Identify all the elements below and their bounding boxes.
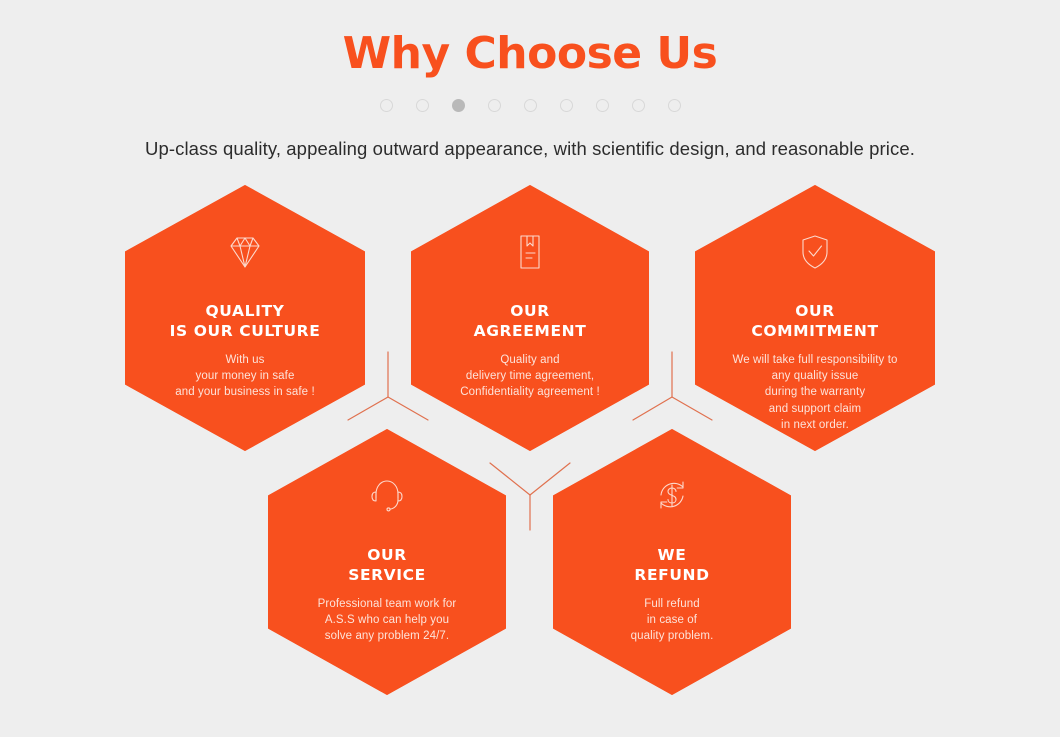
dot-indicator bbox=[380, 99, 393, 112]
card-body-line-3: quality problem. bbox=[631, 628, 714, 644]
card-body-line-1: Quality and bbox=[460, 352, 600, 368]
card-our-service[interactable]: OUR SERVICE Professional team work for A… bbox=[268, 429, 506, 695]
headset-icon bbox=[365, 474, 409, 523]
diamond-icon bbox=[223, 230, 267, 279]
card-body-line-2: delivery time agreement, bbox=[460, 368, 600, 384]
card-title-line-2: SERVICE bbox=[348, 565, 426, 585]
card-title-line-2: IS OUR CULTURE bbox=[170, 321, 321, 341]
card-title-line-1: QUALITY bbox=[170, 301, 321, 321]
card-body: Quality and delivery time agreement, Con… bbox=[460, 352, 600, 401]
dot-indicator bbox=[416, 99, 429, 112]
card-title-line-2: COMMITMENT bbox=[751, 321, 878, 341]
card-title-line-2: AGREEMENT bbox=[474, 321, 587, 341]
why-choose-us-section: Why Choose Us Up-class quality, appealin… bbox=[0, 0, 1060, 737]
card-body-line-3: during the warranty bbox=[733, 384, 898, 400]
dot-indicator bbox=[632, 99, 645, 112]
card-title: OUR SERVICE bbox=[348, 545, 426, 585]
card-title-line-1: OUR bbox=[751, 301, 878, 321]
section-subtitle: Up-class quality, appealing outward appe… bbox=[0, 138, 1060, 160]
card-body-line-1: With us bbox=[175, 352, 315, 368]
pagination-dot-6[interactable] bbox=[548, 99, 584, 112]
card-body-line-1: Professional team work for bbox=[318, 596, 457, 612]
card-body: Professional team work for A.S.S who can… bbox=[318, 596, 457, 645]
card-title-line-1: OUR bbox=[474, 301, 587, 321]
card-body-line-3: solve any problem 24/7. bbox=[318, 628, 457, 644]
page-title: Why Choose Us bbox=[0, 30, 1060, 78]
card-body-line-2: A.S.S who can help you bbox=[318, 612, 457, 628]
card-title-line-1: WE bbox=[634, 545, 709, 565]
card-our-agreement[interactable]: OUR AGREEMENT Quality and delivery time … bbox=[411, 185, 649, 451]
card-body-line-2: any quality issue bbox=[733, 368, 898, 384]
card-body-line-2: your money in safe bbox=[175, 368, 315, 384]
dot-indicator-active bbox=[452, 99, 465, 112]
dot-indicator bbox=[524, 99, 537, 112]
card-title: QUALITY IS OUR CULTURE bbox=[170, 301, 321, 341]
pagination-dot-8[interactable] bbox=[620, 99, 656, 112]
card-body-line-1: We will take full responsibility to bbox=[733, 352, 898, 368]
card-body-line-2: in case of bbox=[631, 612, 714, 628]
dot-indicator bbox=[668, 99, 681, 112]
pagination-dot-1[interactable] bbox=[368, 99, 404, 112]
dot-indicator bbox=[488, 99, 501, 112]
card-body: We will take full responsibility to any … bbox=[733, 352, 898, 433]
card-body: With us your money in safe and your busi… bbox=[175, 352, 315, 401]
pagination-dot-7[interactable] bbox=[584, 99, 620, 112]
pagination-dot-4[interactable] bbox=[476, 99, 512, 112]
pagination-dot-9[interactable] bbox=[656, 99, 692, 112]
pagination-dot-5[interactable] bbox=[512, 99, 548, 112]
card-body-line-4: and support claim bbox=[733, 401, 898, 417]
carousel-pagination[interactable] bbox=[0, 99, 1060, 112]
document-bookmark-icon bbox=[508, 230, 552, 279]
dot-indicator bbox=[596, 99, 609, 112]
card-title-line-2: REFUND bbox=[634, 565, 709, 585]
card-title: OUR COMMITMENT bbox=[751, 301, 878, 341]
card-quality-is-our-culture[interactable]: QUALITY IS OUR CULTURE With us your mone… bbox=[125, 185, 365, 451]
card-title: OUR AGREEMENT bbox=[474, 301, 587, 341]
card-body-line-3: and your business in safe ! bbox=[175, 384, 315, 400]
dot-indicator bbox=[560, 99, 573, 112]
card-body: Full refund in case of quality problem. bbox=[631, 596, 714, 645]
card-we-refund[interactable]: WE REFUND Full refund in case of quality… bbox=[553, 429, 791, 695]
card-body-line-3: Confidentiality agreement ! bbox=[460, 384, 600, 400]
card-body-line-1: Full refund bbox=[631, 596, 714, 612]
card-body-line-5: in next order. bbox=[733, 417, 898, 433]
card-title-line-1: OUR bbox=[348, 545, 426, 565]
refund-dollar-icon bbox=[650, 474, 694, 523]
card-title: WE REFUND bbox=[634, 545, 709, 585]
pagination-dot-3[interactable] bbox=[440, 99, 476, 112]
pagination-dot-2[interactable] bbox=[404, 99, 440, 112]
card-our-commitment[interactable]: OUR COMMITMENT We will take full respons… bbox=[695, 185, 935, 451]
shield-check-icon bbox=[793, 230, 837, 279]
